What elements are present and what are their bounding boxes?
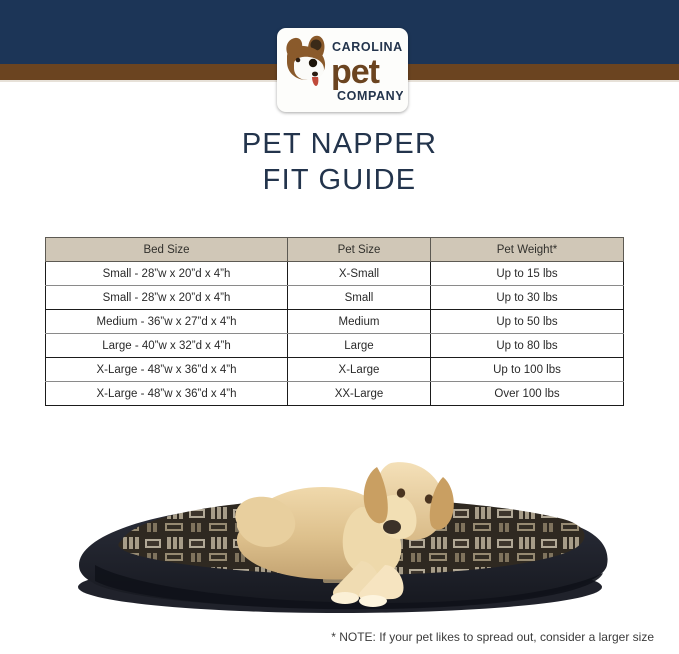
column-header-bed-size: Bed Size (46, 238, 288, 262)
cell-pet-size: Small (288, 286, 431, 310)
footnote-note: * NOTE: If your pet likes to spread out,… (331, 630, 654, 644)
svg-text:CAROLINA: CAROLINA (332, 40, 403, 54)
cell-pet-weight: Up to 100 lbs (431, 358, 624, 382)
table-header-row: Bed Size Pet Size Pet Weight* (46, 238, 624, 262)
page-title-line1: PET NAPPER (0, 126, 679, 162)
table-row: X-Large - 48”w x 36”d x 4”h X-Large Up t… (46, 358, 624, 382)
table-row: Large - 40”w x 32”d x 4”h Large Up to 80… (46, 334, 624, 358)
table-row: Small - 28”w x 20”d x 4”h Small Up to 30… (46, 286, 624, 310)
cell-pet-size: XX-Large (288, 382, 431, 406)
page-title: PET NAPPER FIT GUIDE (0, 126, 679, 198)
cell-bed-size: Small - 28”w x 20”d x 4”h (46, 262, 288, 286)
column-header-pet-weight: Pet Weight* (431, 238, 624, 262)
cell-bed-size: X-Large - 48”w x 36”d x 4”h (46, 358, 288, 382)
dog-paw-right (359, 595, 387, 607)
dog-nose (383, 520, 401, 534)
brand-logo-inner: CAROLINA pet COMPANY (277, 28, 408, 112)
cell-pet-size: X-Large (288, 358, 431, 382)
cell-pet-weight: Up to 50 lbs (431, 310, 624, 334)
table-row: X-Large - 48”w x 36”d x 4”h XX-Large Ove… (46, 382, 624, 406)
product-photo-dog-on-bed (55, 415, 625, 620)
dog-eye-left (397, 488, 405, 497)
column-header-pet-size: Pet Size (288, 238, 431, 262)
svg-text:pet: pet (331, 53, 380, 91)
cell-pet-size: Medium (288, 310, 431, 334)
fit-guide-table: Bed Size Pet Size Pet Weight* Small - 28… (45, 237, 624, 406)
cell-pet-weight: Up to 80 lbs (431, 334, 624, 358)
page-title-line2: FIT GUIDE (0, 162, 679, 198)
carolina-pet-company-logo-icon: CAROLINA pet COMPANY (282, 33, 403, 107)
table-row: Medium - 36”w x 27”d x 4”h Medium Up to … (46, 310, 624, 334)
brand-logo-card[interactable]: CAROLINA pet COMPANY (277, 28, 408, 112)
cell-pet-weight: Up to 30 lbs (431, 286, 624, 310)
cell-bed-size: Medium - 36”w x 27”d x 4”h (46, 310, 288, 334)
dog-paw-left (331, 592, 359, 604)
cell-pet-size: X-Small (288, 262, 431, 286)
cell-pet-weight: Up to 15 lbs (431, 262, 624, 286)
cell-bed-size: Large - 40”w x 32”d x 4”h (46, 334, 288, 358)
cell-bed-size: Small - 28”w x 20”d x 4”h (46, 286, 288, 310)
table-row: Small - 28”w x 20”d x 4”h X-Small Up to … (46, 262, 624, 286)
dog-head-mark (286, 36, 325, 86)
cell-bed-size: X-Large - 48”w x 36”d x 4”h (46, 382, 288, 406)
cell-pet-weight: Over 100 lbs (431, 382, 624, 406)
table-body: Small - 28”w x 20”d x 4”h X-Small Up to … (46, 262, 624, 406)
svg-text:COMPANY: COMPANY (337, 89, 403, 103)
table-header: Bed Size Pet Size Pet Weight* (46, 238, 624, 262)
cell-pet-size: Large (288, 334, 431, 358)
